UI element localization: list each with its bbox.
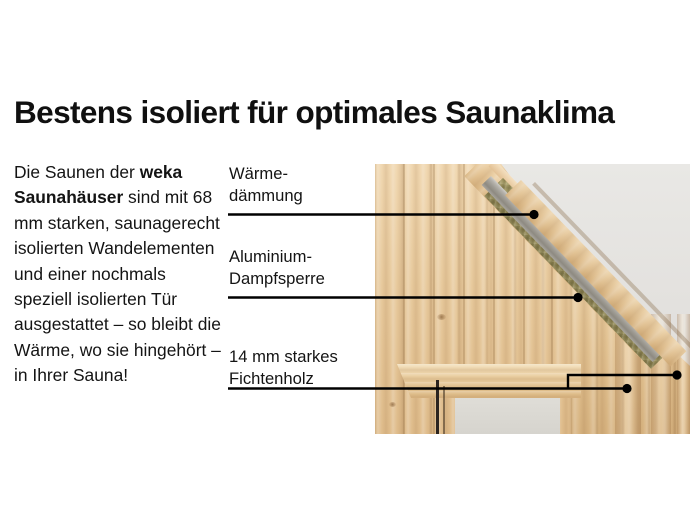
body-text-lead: Die Saunen der xyxy=(14,162,140,182)
page-title: Bestens isoliert für optimales Saunaklim… xyxy=(14,96,694,129)
door-frame-shadow-gap-secondary xyxy=(443,386,445,434)
door-opening xyxy=(455,398,560,434)
wood-knot xyxy=(389,402,396,407)
plank-seam xyxy=(403,164,405,434)
door-frame-shadow-gap xyxy=(436,380,439,434)
door-lintel-beam xyxy=(397,364,581,398)
callout-label-waermedaemmung: Wärme- dämmung xyxy=(229,163,303,206)
body-paragraph: Die Saunen der weka Saunahäuser sind mit… xyxy=(14,160,226,389)
callout-label-aluminium-dampfsperre: Aluminium- Dampfsperre xyxy=(229,246,325,289)
callout-label-fichtenholz: 14 mm starkes Fichtenholz xyxy=(229,346,338,389)
body-text-rest: sind mit 68 mm starken, saunagerecht iso… xyxy=(14,187,221,385)
wood-knot xyxy=(437,314,446,320)
page-root: Bestens isoliert für optimales Saunaklim… xyxy=(0,0,700,525)
sauna-wall-cutaway-photo xyxy=(375,164,690,434)
